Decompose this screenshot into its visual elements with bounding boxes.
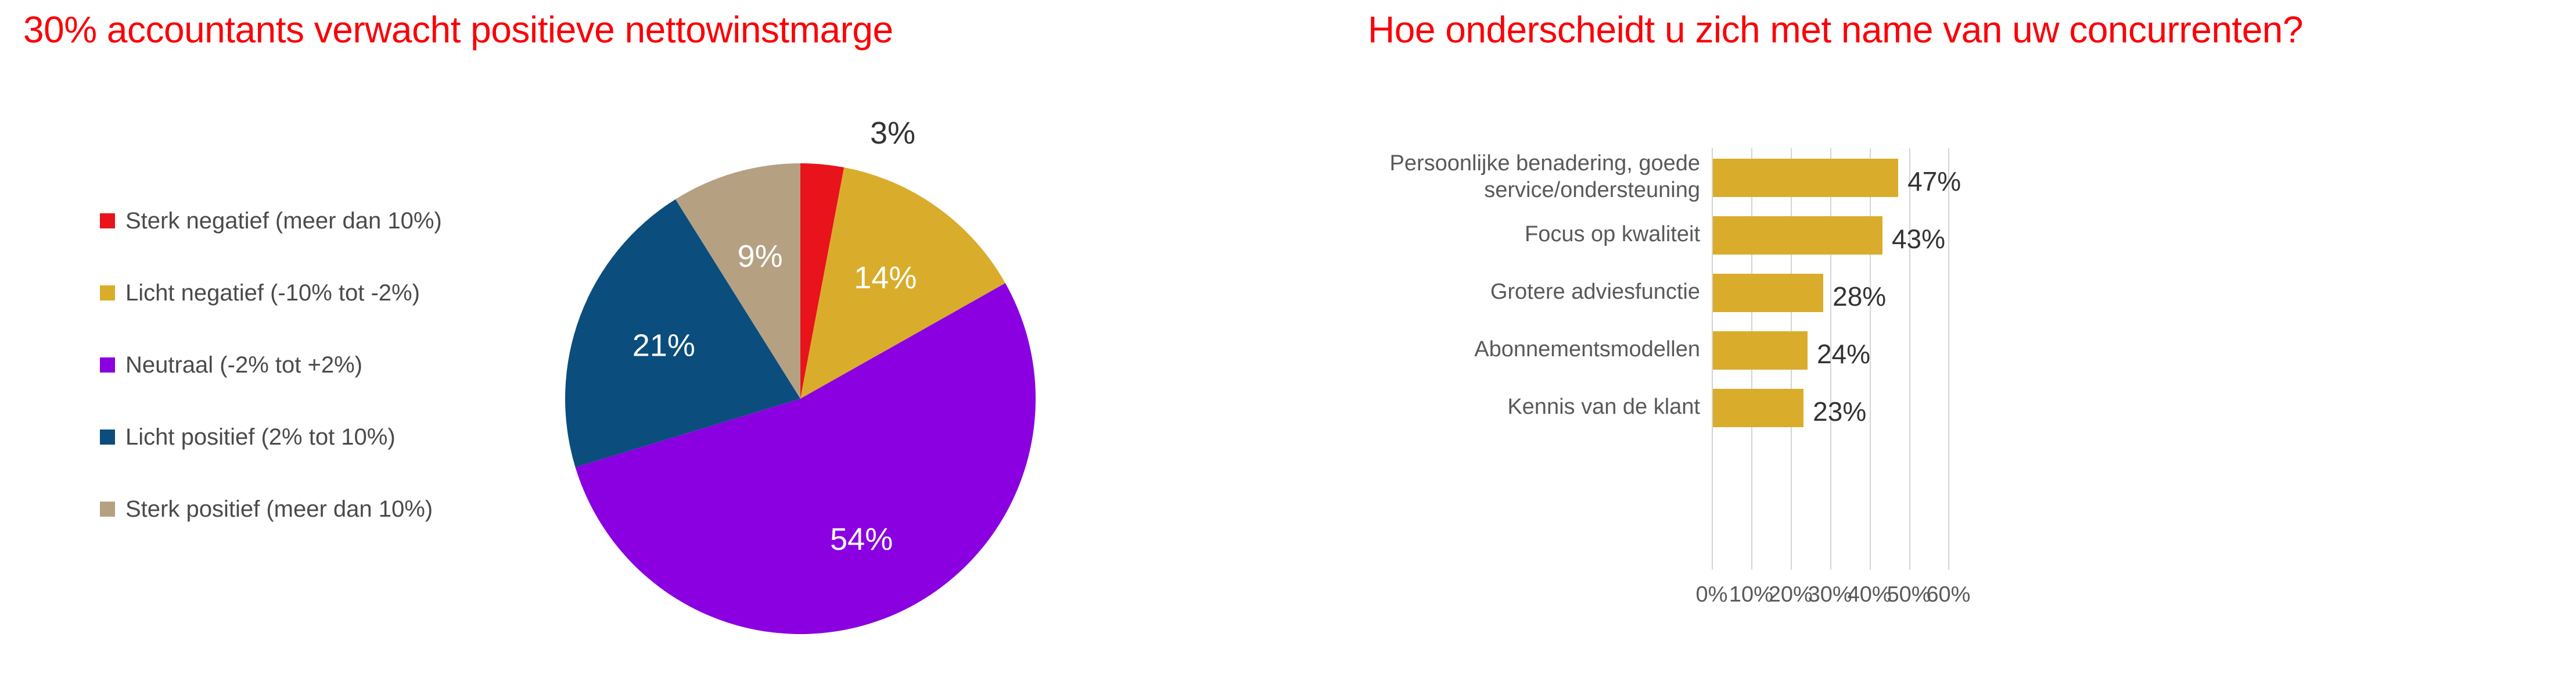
legend-swatch-sterk-negatief (100, 213, 115, 228)
x-axis-tick-label: 0% (1696, 582, 1728, 607)
legend-label: Neutraal (-2% tot +2%) (125, 353, 362, 377)
pie-data-label-neutraal: 54% (830, 522, 893, 557)
bar-data-label: 23% (1813, 396, 1866, 427)
legend-item: Sterk positief (meer dan 10%) (100, 473, 541, 545)
bar-row (1713, 331, 1808, 370)
bar-row (1713, 159, 1898, 197)
legend-label: Sterk negatief (meer dan 10%) (125, 209, 442, 232)
gridline-50 (1909, 148, 1910, 570)
bar-row (1713, 389, 1803, 427)
x-axis-tick-label: 20% (1769, 582, 1813, 607)
pie-slice-group (565, 163, 1036, 634)
pie-chart: 14%54%21%9% (565, 163, 1036, 634)
gridline-60 (1948, 148, 1949, 570)
bar-data-label: 28% (1833, 281, 1886, 312)
bar-row (1713, 216, 1882, 255)
page-title-left: 30% accountants verwacht positieve netto… (23, 8, 893, 51)
legend-swatch-licht-positief (100, 430, 115, 445)
legend-item: Licht negatief (-10% tot -2%) (100, 257, 541, 329)
category-label: Grotere adviesfunctie (1328, 278, 1700, 305)
x-axis-tick-label: 50% (1887, 582, 1931, 607)
x-axis-tick-label: 60% (1926, 582, 1970, 607)
bar-data-label: 47% (1907, 166, 1961, 197)
legend-item: Neutraal (-2% tot +2%) (100, 329, 541, 401)
legend-label: Sterk positief (meer dan 10%) (125, 498, 433, 521)
bar-row (1713, 274, 1823, 312)
bar-data-label: 24% (1817, 338, 1870, 370)
legend-item: Licht positief (2% tot 10%) (100, 401, 541, 473)
pie-data-label-licht-negatief: 14% (854, 260, 917, 295)
category-label: Focus op kwaliteit (1328, 221, 1700, 248)
category-label: Kennis van de klant (1328, 393, 1700, 420)
category-label: Persoonlijke benadering, goede service/o… (1328, 150, 1700, 203)
pie-data-label-licht-positief: 21% (633, 328, 695, 363)
legend-label: Licht positief (2% tot 10%) (125, 425, 396, 449)
page-title-right: Hoe onderscheidt u zich met name van uw … (1368, 8, 2303, 51)
pie-chart-svg: 14%54%21%9% (565, 163, 1036, 634)
x-axis-tick-label: 10% (1729, 582, 1773, 607)
legend-swatch-sterk-positief (100, 502, 115, 517)
x-axis-tick-label: 40% (1848, 582, 1892, 607)
bar-chart: Persoonlijke benadering, goede service/o… (1266, 139, 2576, 663)
pie-data-label-sterk-negatief: 3% (870, 115, 915, 151)
bar-data-label: 43% (1892, 223, 1945, 255)
legend-label: Licht negatief (-10% tot -2%) (125, 281, 420, 305)
legend-item: Sterk negatief (meer dan 10%) (100, 185, 541, 257)
pie-data-label-sterk-positief: 9% (738, 239, 783, 274)
legend-swatch-neutraal (100, 357, 115, 373)
category-label: Abonnementsmodellen (1328, 336, 1700, 363)
pie-legend: Sterk negatief (meer dan 10%) Licht nega… (100, 185, 541, 545)
legend-swatch-licht-negatief (100, 285, 115, 300)
x-axis-tick-label: 30% (1808, 582, 1852, 607)
